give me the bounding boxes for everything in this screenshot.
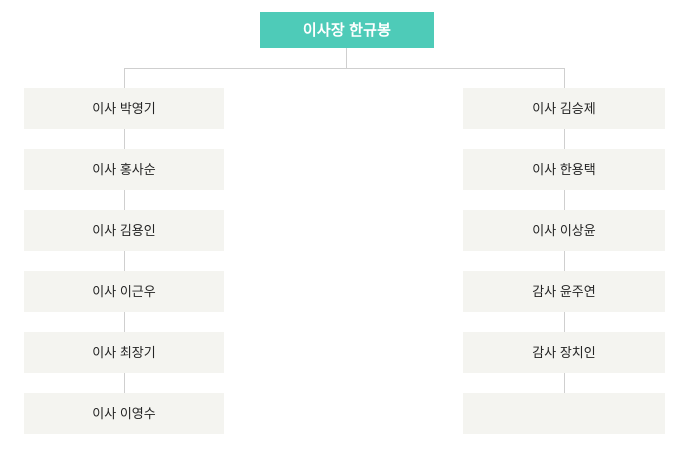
org-node-right-3[interactable]: 이사 이상윤 bbox=[463, 210, 665, 251]
org-node-label: 이사 김승제 bbox=[532, 102, 595, 115]
org-node-label: 감사 윤주연 bbox=[532, 285, 595, 298]
org-node-label: 이사장 한규봉 bbox=[303, 23, 391, 38]
connector-left-4-5 bbox=[24, 312, 224, 332]
org-node-label: 감사 장치인 bbox=[532, 346, 595, 359]
org-chart: 이사장 한규봉 이사 박영기 이사 홍사순 이사 김용인 이사 이근우 이사 최… bbox=[0, 0, 690, 470]
connector-horizontal-branch bbox=[124, 68, 565, 69]
org-node-left-2[interactable]: 이사 홍사순 bbox=[24, 149, 224, 190]
org-node-chairman[interactable]: 이사장 한규봉 bbox=[260, 12, 434, 48]
org-node-label: 이사 박영기 bbox=[92, 102, 155, 115]
connector-left-2-3 bbox=[24, 190, 224, 210]
org-node-label: 이사 최장기 bbox=[92, 346, 155, 359]
org-node-left-4[interactable]: 이사 이근우 bbox=[24, 271, 224, 312]
org-node-left-6[interactable]: 이사 이영수 bbox=[24, 393, 224, 434]
org-node-label: 이사 이영수 bbox=[92, 407, 155, 420]
connector-root-vertical bbox=[346, 48, 347, 68]
connector-right-1-2 bbox=[463, 129, 665, 149]
connector-right-4-5 bbox=[463, 312, 665, 332]
connector-left-1-2 bbox=[24, 129, 224, 149]
connector-left-column-vertical bbox=[124, 68, 125, 88]
connector-right-5-6 bbox=[463, 373, 665, 393]
connector-right-2-3 bbox=[463, 190, 665, 210]
org-node-right-1[interactable]: 이사 김승제 bbox=[463, 88, 665, 129]
connector-right-column-vertical bbox=[564, 68, 565, 88]
org-node-left-3[interactable]: 이사 김용인 bbox=[24, 210, 224, 251]
org-column-left: 이사 박영기 이사 홍사순 이사 김용인 이사 이근우 이사 최장기 이사 이영… bbox=[24, 88, 224, 434]
connector-right-3-4 bbox=[463, 251, 665, 271]
org-column-right: 이사 김승제 이사 한용택 이사 이상윤 감사 윤주연 감사 장치인 bbox=[463, 88, 665, 434]
org-node-right-6-empty[interactable] bbox=[463, 393, 665, 434]
org-node-label: 이사 이근우 bbox=[92, 285, 155, 298]
org-node-right-2[interactable]: 이사 한용택 bbox=[463, 149, 665, 190]
org-node-left-5[interactable]: 이사 최장기 bbox=[24, 332, 224, 373]
org-node-right-4[interactable]: 감사 윤주연 bbox=[463, 271, 665, 312]
org-node-label: 이사 홍사순 bbox=[92, 163, 155, 176]
connector-left-3-4 bbox=[24, 251, 224, 271]
org-node-label: 이사 김용인 bbox=[92, 224, 155, 237]
org-node-label: 이사 이상윤 bbox=[532, 224, 595, 237]
org-node-left-1[interactable]: 이사 박영기 bbox=[24, 88, 224, 129]
org-node-label: 이사 한용택 bbox=[532, 163, 595, 176]
connector-left-5-6 bbox=[24, 373, 224, 393]
org-node-right-5[interactable]: 감사 장치인 bbox=[463, 332, 665, 373]
